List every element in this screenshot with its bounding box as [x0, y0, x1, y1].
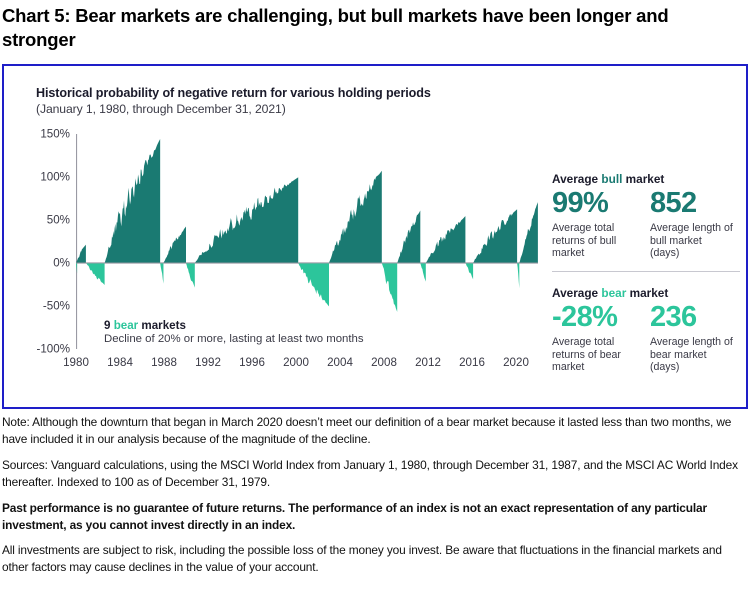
chart-subheading: (January 1, 1980, through December 31, 2… [36, 102, 556, 116]
market-episode-area [420, 263, 426, 282]
stat-bear-length: 236 Average length of bear market (days) [650, 303, 734, 374]
market-episode-area [397, 210, 420, 263]
x-axis-labels: 1980198419881992199620002004200820122016… [76, 356, 538, 376]
x-tick-label: 2008 [371, 356, 397, 369]
market-episode-area [473, 209, 517, 263]
y-tick-label: 100% [40, 171, 70, 184]
market-episode-area [76, 245, 86, 263]
market-episode-area [382, 263, 397, 312]
market-episode-area [329, 171, 382, 263]
stat-bull-return-value: 99% [552, 189, 636, 219]
footnote-paragraph: Sources: Vanguard calculations, using th… [2, 457, 746, 491]
area-chart-svg [76, 134, 538, 349]
footnotes: Note: Although the downturn that began i… [2, 414, 746, 585]
market-episode-area [298, 263, 329, 306]
x-tick-label: 2012 [415, 356, 441, 369]
market-episode-area [465, 263, 473, 279]
market-episode-area [163, 227, 186, 263]
bear-note-subtitle: Decline of 20% or more, lasting at least… [104, 333, 444, 345]
chart-panel: Historical probability of negative retur… [2, 64, 748, 409]
callout-bear-market: Average bear market -28% Average total r… [552, 286, 742, 374]
market-episode-area [105, 139, 161, 263]
bear-accent-word: bear [114, 319, 139, 332]
y-tick-label: 150% [40, 128, 70, 141]
market-episode-area [426, 216, 466, 263]
stat-bear-return-value: -28% [552, 303, 636, 333]
stat-bear-length-caption: Average length of bear market (days) [650, 336, 734, 375]
bear-note-title: 9 bear markets [104, 319, 444, 332]
stat-bull-length-caption: Average length of bull market (days) [650, 222, 734, 261]
stat-bear-return: -28% Average total returns of bear marke… [552, 303, 636, 374]
x-tick-label: 2020 [503, 356, 529, 369]
callout-bull-head-suffix: market [626, 172, 665, 186]
stat-bull-return: 99% Average total returns of bull market [552, 189, 636, 260]
x-tick-label: 1992 [195, 356, 221, 369]
market-episode-area [160, 263, 163, 284]
bear-markets-annotation: 9 bear markets Decline of 20% or more, l… [104, 319, 444, 345]
y-tick-label: -100% [36, 343, 70, 356]
stat-bear-return-caption: Average total returns of bear market [552, 336, 636, 375]
callout-bull-head-prefix: Average [552, 172, 598, 186]
bear-note-title-tail: markets [141, 319, 185, 332]
callout-bull-head-accent: bull [601, 172, 622, 186]
bear-count: 9 [104, 319, 110, 332]
stat-bull-return-caption: Average total returns of bull market [552, 222, 636, 261]
market-episode-area [186, 263, 195, 288]
market-episode-area [86, 263, 105, 285]
y-axis-labels: 150%100%50%0%-50%-100% [4, 134, 76, 349]
callout-bear-head-prefix: Average [552, 286, 598, 300]
callout-bear-head-accent: bear [601, 286, 626, 300]
callout-divider [552, 271, 740, 272]
x-tick-label: 2004 [327, 356, 353, 369]
x-tick-label: 1980 [63, 356, 89, 369]
footnote-paragraph: Note: Although the downturn that began i… [2, 414, 746, 448]
page-title: Chart 5: Bear markets are challenging, b… [0, 0, 752, 52]
stat-bear-length-value: 236 [650, 303, 734, 333]
x-tick-label: 2016 [459, 356, 485, 369]
x-tick-label: 1988 [151, 356, 177, 369]
x-tick-label: 2000 [283, 356, 309, 369]
plot-area: 150%100%50%0%-50%-100% 19801984198819921… [4, 134, 544, 384]
x-tick-label: 1984 [107, 356, 133, 369]
callout-bear-head-suffix: market [630, 286, 669, 300]
market-episode-area [519, 202, 538, 263]
callout-bull-heading: Average bull market [552, 172, 742, 186]
x-tick-label: 1996 [239, 356, 265, 369]
stat-bull-length-value: 852 [650, 189, 734, 219]
callout-bull-market: Average bull market 99% Average total re… [552, 172, 742, 260]
y-tick-label: 50% [47, 214, 70, 227]
footnote-paragraph: All investments are subject to risk, inc… [2, 542, 746, 576]
market-episode-area [517, 263, 519, 288]
y-tick-label: -50% [43, 300, 70, 313]
chart-header: Historical probability of negative retur… [36, 86, 556, 116]
y-tick-label: 0% [53, 257, 70, 270]
market-episode-area [195, 177, 298, 263]
chart-heading: Historical probability of negative retur… [36, 86, 556, 100]
stat-bull-length: 852 Average length of bull market (days) [650, 189, 734, 260]
footnote-paragraph: Past performance is no guarantee of futu… [2, 500, 746, 534]
callout-bear-heading: Average bear market [552, 286, 742, 300]
